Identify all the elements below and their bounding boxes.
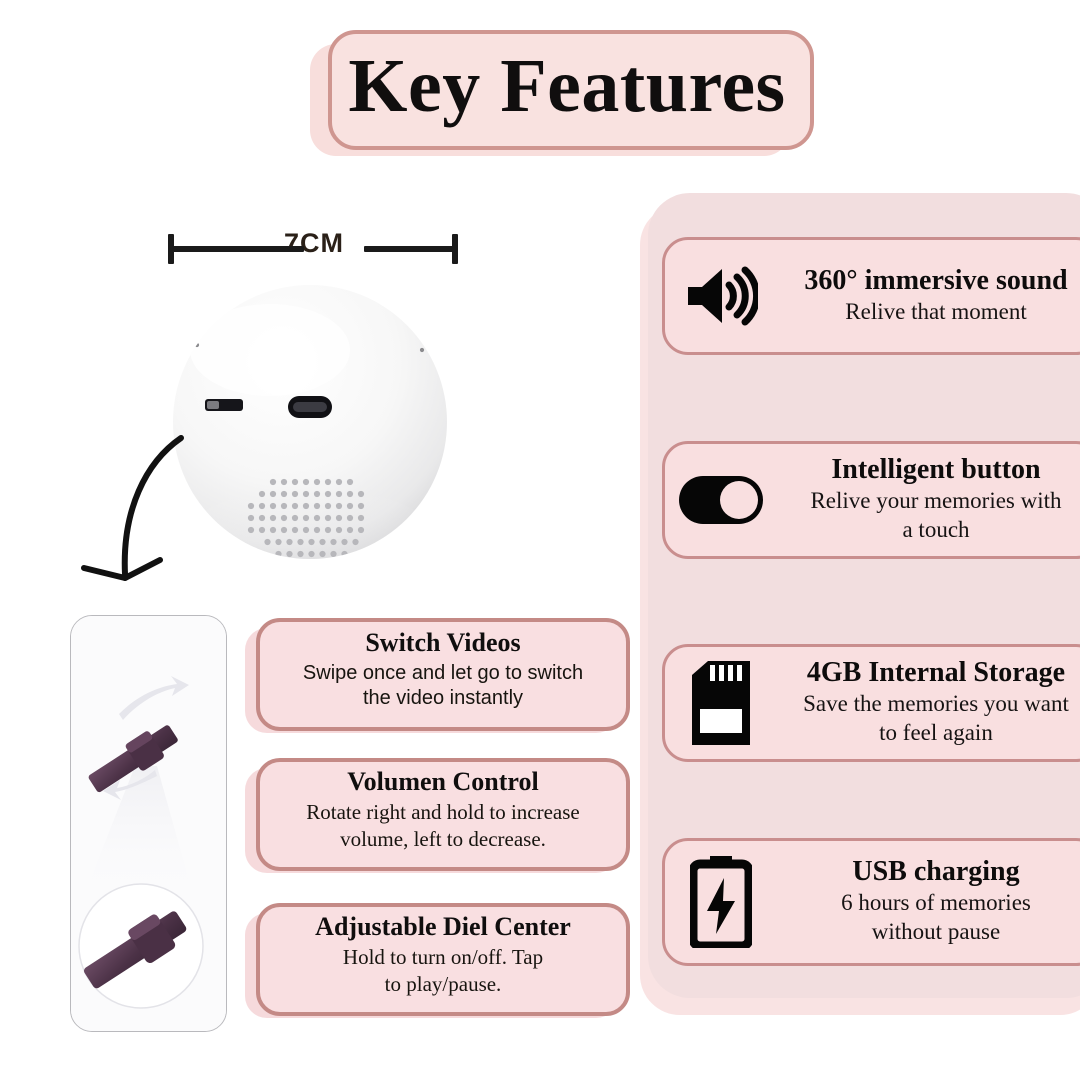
feature-card-intelligent-button[interactable]: Intelligent button Relive your memories … xyxy=(662,441,1080,559)
page-title: Key Features xyxy=(328,30,806,142)
card-description-line: to feel again xyxy=(777,719,1080,748)
card-description-line: the video instantly xyxy=(303,686,583,712)
dial-control-photo-panel xyxy=(70,615,227,1032)
toggle-switch-on-icon[interactable] xyxy=(677,474,765,526)
card-description-line: Relive your memories with xyxy=(777,487,1080,516)
feature-card-usb-charging[interactable]: USB charging 6 hours of memories without… xyxy=(662,838,1080,966)
icon-container xyxy=(665,856,777,948)
card-texts: 360° immersive sound Relive that moment xyxy=(777,266,1080,327)
card-content: Adjustable Diel Center Hold to turn on/o… xyxy=(256,903,630,1008)
battery-charging-icon xyxy=(690,856,752,948)
sd-card-icon xyxy=(688,661,754,745)
card-title: Switch Videos xyxy=(365,629,520,656)
card-title: Volumen Control xyxy=(347,768,538,795)
dimension-label: 7CM xyxy=(168,228,460,259)
card-description-line: to play/pause. xyxy=(343,971,543,998)
card-description: Hold to turn on/off. Tap to play/pause. xyxy=(343,944,543,998)
card-description-line: Rotate right and hold to increase xyxy=(306,799,580,826)
speaker-volume-icon xyxy=(684,265,758,327)
card-title: 4GB Internal Storage xyxy=(777,658,1080,688)
dimension-cap-right xyxy=(452,234,458,264)
card-content: Volumen Control Rotate right and hold to… xyxy=(256,758,630,863)
icon-container xyxy=(665,661,777,745)
dimension-line-right xyxy=(364,246,454,252)
card-title: Intelligent button xyxy=(777,455,1080,485)
card-description: Relive that moment xyxy=(777,298,1080,327)
feature-card-volumen-control[interactable]: Volumen Control Rotate right and hold to… xyxy=(245,758,630,863)
card-description: Relive your memories with a touch xyxy=(777,487,1080,545)
page-title-block: Key Features xyxy=(310,30,810,160)
card-texts: Intelligent button Relive your memories … xyxy=(777,455,1080,545)
card-description: Swipe once and let go to switch the vide… xyxy=(303,661,583,712)
card-description-line: Save the memories you want xyxy=(777,690,1080,719)
card-description-line: Hold to turn on/off. Tap xyxy=(343,944,543,971)
feature-card-adjustable-diel-center[interactable]: Adjustable Diel Center Hold to turn on/o… xyxy=(245,903,630,1008)
card-content: Switch Videos Swipe once and let go to s… xyxy=(256,618,630,723)
feature-card-switch-videos[interactable]: Switch Videos Swipe once and let go to s… xyxy=(245,618,630,723)
card-description: Save the memories you want to feel again xyxy=(777,690,1080,748)
card-title: Adjustable Diel Center xyxy=(315,913,571,940)
card-description: 6 hours of memories without pause xyxy=(777,889,1080,947)
feature-card-immersive-sound[interactable]: 360° immersive sound Relive that moment xyxy=(662,237,1080,355)
card-description: Rotate right and hold to increase volume… xyxy=(306,799,580,853)
feature-card-internal-storage[interactable]: 4GB Internal Storage Save the memories y… xyxy=(662,644,1080,762)
card-description-line: a touch xyxy=(777,516,1080,545)
card-description-line: without pause xyxy=(777,918,1080,947)
card-description-line: 6 hours of memories xyxy=(777,889,1080,918)
card-description-line: volume, left to decrease. xyxy=(306,826,580,853)
card-title: USB charging xyxy=(777,857,1080,887)
dimension-indicator: 7CM xyxy=(168,228,460,268)
card-description-line: Relive that moment xyxy=(777,298,1080,327)
card-description-line: Swipe once and let go to switch xyxy=(303,661,583,687)
icon-container xyxy=(665,474,777,526)
dial-control-photo xyxy=(71,616,226,1031)
dimension-line-left xyxy=(172,246,304,252)
card-texts: USB charging 6 hours of memories without… xyxy=(777,857,1080,947)
card-texts: 4GB Internal Storage Save the memories y… xyxy=(777,658,1080,748)
infographic-canvas: Key Features 7CM xyxy=(0,0,1080,1080)
card-title: 360° immersive sound xyxy=(777,266,1080,296)
icon-container xyxy=(665,265,777,327)
curved-down-arrow-icon xyxy=(78,418,218,613)
